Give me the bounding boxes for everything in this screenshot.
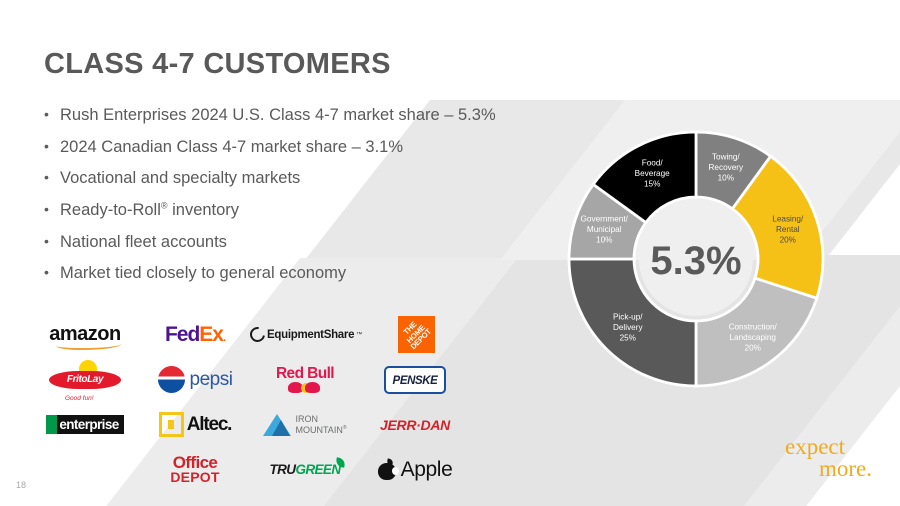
list-item: • Ready-to-Roll® inventory <box>44 200 514 221</box>
frito-lay-label: FritoLay <box>67 374 103 385</box>
logo-penske: PENSKE <box>360 357 470 402</box>
donut-slice-value: 15% <box>644 180 660 189</box>
tagline-line2: more. <box>819 458 872 480</box>
bullet-list: • Rush Enterprises 2024 U.S. Class 4-7 m… <box>44 105 514 295</box>
bullet-text: Rush Enterprises 2024 U.S. Class 4-7 mar… <box>60 105 514 126</box>
iron-mountain-line2-label: MOUNTAIN <box>295 425 342 435</box>
donut-slice-value: 25% <box>620 334 636 343</box>
apple-mark: Apple <box>378 458 453 482</box>
donut-slice-value: 10% <box>596 236 612 245</box>
donut-center-value: 5.3% <box>650 239 741 283</box>
donut-slice-value: 20% <box>780 236 796 245</box>
customer-logo-grid: amazon FedEx. EquipmentShare ™ THE HO <box>30 312 470 492</box>
donut-slice-value: 20% <box>745 344 761 353</box>
red-bull-bulls-icon <box>276 382 334 394</box>
logo-row: enterprise Altec. IRON MOUNTAIN® <box>30 402 470 447</box>
logo-equipmentshare: EquipmentShare ™ <box>250 312 362 357</box>
donut-slice-value: 10% <box>718 174 734 183</box>
expect-more-tagline: expect more. <box>785 436 872 480</box>
tagline-line1: expect <box>785 436 872 458</box>
jerr-dan-label: JERR·DAN <box>380 417 450 433</box>
logo-row: amazon FedEx. EquipmentShare ™ THE HO <box>30 312 470 357</box>
logo-spacer <box>30 447 140 492</box>
list-item: • National fleet accounts <box>44 232 514 253</box>
home-depot-mark: THE HOME DEPOT <box>398 316 435 353</box>
logo-enterprise: enterprise <box>30 402 140 447</box>
iron-mountain-mark: IRON MOUNTAIN® <box>263 414 346 436</box>
fedex-dot-icon: . <box>223 332 225 344</box>
fedex-ex-label: Ex <box>199 323 223 346</box>
bullet-dot: • <box>44 137 60 156</box>
equipmentshare-wordmark: EquipmentShare ™ <box>250 327 362 342</box>
donut-slice-label: Rental <box>776 225 800 234</box>
iron-mountain-text: IRON MOUNTAIN® <box>295 414 346 435</box>
donut-slice-label: Delivery <box>613 323 643 332</box>
frito-lay-ribbon: FritoLay <box>49 371 121 389</box>
frito-lay-tagline: Good fun! <box>65 395 94 402</box>
equipmentshare-label: EquipmentShare <box>267 329 354 341</box>
fedex-wordmark: FedEx. <box>165 323 225 347</box>
bullet-dot: • <box>44 168 60 187</box>
logo-trugreen: TRUGREEN <box>250 447 360 492</box>
logo-altec: Altec. <box>140 402 250 447</box>
list-item: • 2024 Canadian Class 4-7 market share –… <box>44 137 514 158</box>
apple-label: Apple <box>401 458 453 482</box>
bullet-text: Vocational and specialty markets <box>60 168 514 189</box>
fedex-fed-label: Fed <box>165 323 199 346</box>
enterprise-mark: enterprise <box>46 415 123 434</box>
bullet-text-suffix: inventory <box>168 201 240 219</box>
logo-fedex: FedEx. <box>140 312 250 357</box>
apple-bite-icon <box>392 467 399 475</box>
logo-home-depot: THE HOME DEPOT <box>362 312 472 357</box>
bullet-text: National fleet accounts <box>60 232 514 253</box>
donut-slice-label: Government/ <box>581 215 629 224</box>
red-bull-mark: Red Bull <box>276 365 334 394</box>
amazon-swoosh-icon <box>56 340 120 350</box>
donut-slice-label: Construction/ <box>729 323 778 332</box>
altec-inner-icon <box>168 420 174 429</box>
page-number: 18 <box>16 480 26 490</box>
bullet-dot: • <box>44 263 60 282</box>
registered-mark: ® <box>161 200 168 210</box>
bullet-text: Market tied closely to general economy <box>60 263 514 284</box>
altec-mark: Altec. <box>159 412 232 437</box>
logo-jerr-dan: JERR·DAN <box>360 402 470 447</box>
penske-label: PENSKE <box>393 375 438 387</box>
logo-row: FritoLay Good fun! pepsi Red Bull <box>30 357 470 402</box>
bullet-dot: • <box>44 105 60 124</box>
bullet-text: Ready-to-Roll® inventory <box>60 200 514 221</box>
penske-mark: PENSKE <box>384 366 447 394</box>
donut-chart: Towing/Recovery10%Leasing/Rental20%Const… <box>551 132 841 387</box>
equipmentshare-gear-icon <box>247 324 268 345</box>
donut-slice-label: Food/ <box>642 159 664 168</box>
red-bull-bull-right-icon <box>305 382 320 393</box>
logo-red-bull: Red Bull <box>250 357 360 402</box>
logo-iron-mountain: IRON MOUNTAIN® <box>250 402 360 447</box>
bullet-text-main: Ready-to-Roll <box>60 201 161 219</box>
trugreen-tru-label: TRU <box>270 462 296 477</box>
donut-chart-svg: Towing/Recovery10%Leasing/Rental20%Const… <box>551 132 841 387</box>
page-title: CLASS 4-7 CUSTOMERS <box>44 48 391 81</box>
logo-amazon: amazon <box>30 312 140 357</box>
amazon-wordmark: amazon <box>49 323 120 346</box>
frito-lay-mark: FritoLay Good fun! <box>49 360 121 400</box>
home-depot-text: THE HOME DEPOT <box>400 317 434 351</box>
donut-slice-label: Towing/ <box>712 153 740 162</box>
apple-icon <box>378 459 396 480</box>
office-depot-mark: Office DEPOT <box>170 455 219 484</box>
bullet-text: 2024 Canadian Class 4-7 market share – 3… <box>60 137 514 158</box>
logo-pepsi: pepsi <box>140 357 250 402</box>
enterprise-label: enterprise <box>57 415 123 434</box>
pepsi-mark: pepsi <box>158 366 233 393</box>
altec-square-icon <box>159 412 184 437</box>
altec-label: Altec. <box>187 414 232 436</box>
logo-office-depot: Office DEPOT <box>140 447 250 492</box>
bullet-dot: • <box>44 200 60 219</box>
logo-row: Office DEPOT TRUGREEN Apple <box>30 447 470 492</box>
logo-frito-lay: FritoLay Good fun! <box>30 357 140 402</box>
logo-apple: Apple <box>360 447 470 492</box>
slide: CLASS 4-7 CUSTOMERS • Rush Enterprises 2… <box>0 0 900 506</box>
iron-mountain-mountain-icon <box>263 414 291 436</box>
list-item: • Vocational and specialty markets <box>44 168 514 189</box>
donut-slice-label: Leasing/ <box>772 215 804 224</box>
red-bull-label: Red Bull <box>276 365 334 383</box>
registered-mark: ® <box>343 425 347 431</box>
donut-slice-label: Municipal <box>587 225 622 234</box>
pepsi-label: pepsi <box>190 369 233 391</box>
iron-mountain-line1: IRON <box>295 414 346 424</box>
pepsi-globe-icon <box>158 366 185 393</box>
enterprise-green-block-icon <box>46 415 57 434</box>
iron-mountain-line2: MOUNTAIN® <box>295 425 346 435</box>
list-item: • Rush Enterprises 2024 U.S. Class 4-7 m… <box>44 105 514 126</box>
trugreen-mark: TRUGREEN <box>270 462 341 477</box>
donut-slice-label: Pick-up/ <box>613 313 643 322</box>
list-item: • Market tied closely to general economy <box>44 263 514 284</box>
office-depot-line2: DEPOT <box>170 471 219 484</box>
donut-slice-label: Beverage <box>635 169 670 178</box>
bullet-dot: • <box>44 232 60 251</box>
trugreen-green-label: GREEN <box>295 462 340 477</box>
donut-slice-label: Landscaping <box>730 333 777 342</box>
donut-slice-label: Recovery <box>709 163 744 172</box>
